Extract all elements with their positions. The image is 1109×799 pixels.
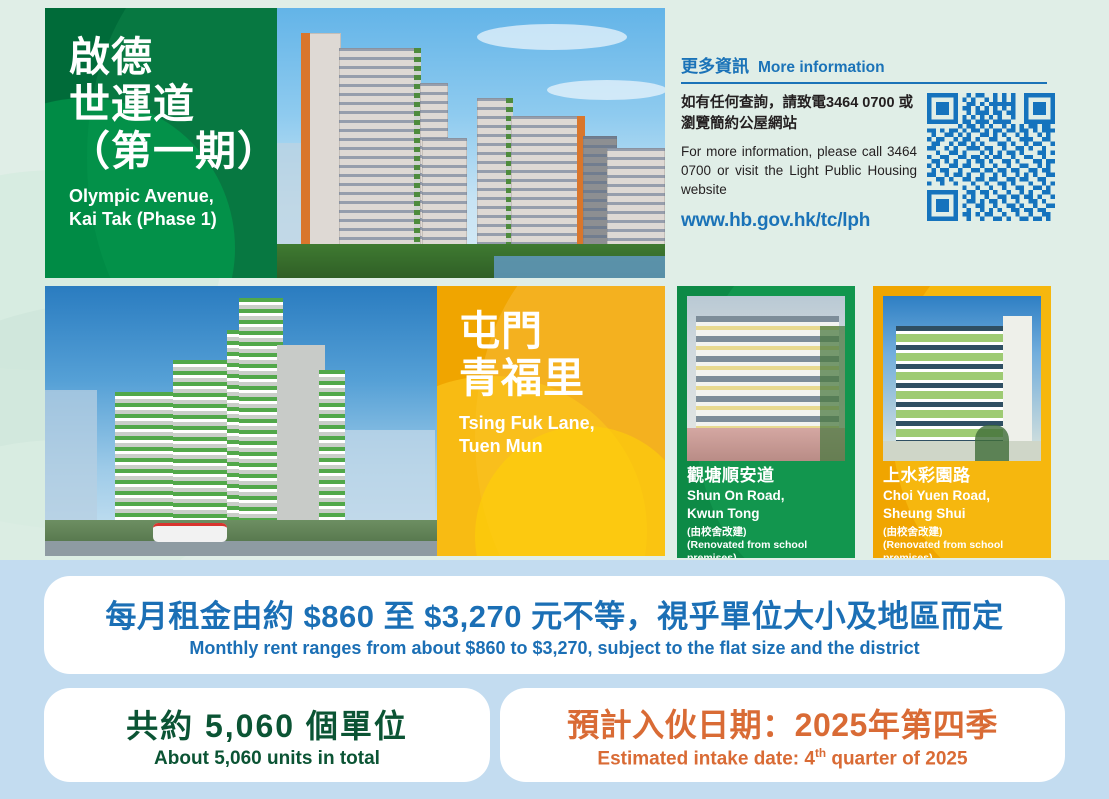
kai-tak-label-group: 啟德 世運道 （第一期） Olympic Avenue, Kai Tak (Ph… — [45, 8, 277, 231]
units-total-cn: 共約 5,060 個單位 — [126, 701, 408, 747]
more-information-heading: 更多資訊 More information — [681, 52, 1047, 84]
site-panel-kai-tak: 啟德 世運道 （第一期） Olympic Avenue, Kai Tak (Ph… — [45, 8, 277, 278]
kai-tak-cn-line1: 啟德 — [69, 34, 277, 81]
cloud-shape — [477, 24, 627, 50]
building-tower — [511, 116, 585, 248]
distant-buildings — [45, 390, 97, 520]
building-facade — [319, 370, 345, 520]
tuen-mun-cn-line2: 青福里 — [459, 355, 665, 402]
more-information-text: 如有任何查詢，請致電3464 0700 或瀏覽簡約公屋網站 For more i… — [681, 93, 917, 232]
intake-en-ordinal: th — [815, 747, 826, 760]
units-total-en: About 5,060 units in total — [154, 748, 380, 770]
school-ground-floor — [883, 441, 1041, 461]
building-tower — [477, 98, 513, 248]
building-windows — [607, 148, 665, 248]
site-card-sheung-shui: 上水彩園路 Choi Yuen Road, Sheung Shui (由校舍改建… — [873, 286, 1051, 558]
building-accent — [301, 33, 310, 248]
building-tower — [115, 392, 179, 520]
building-windows — [339, 48, 421, 248]
light-public-housing-url[interactable]: www.hb.gov.hk/tc/lph — [681, 210, 917, 232]
kai-tak-cn-line3: （第一期） — [69, 128, 277, 175]
units-total-card: 共約 5,060 個單位 About 5,060 units in total — [44, 688, 490, 782]
kai-tak-photo — [277, 8, 665, 278]
more-info-body-cn: 如有任何查詢，請致電3464 0700 或瀏覽簡約公屋網站 — [681, 93, 917, 134]
building-windows — [422, 138, 467, 248]
more-info-body-en: For more information, please call 3464 0… — [681, 142, 917, 199]
sheung-shui-en-line1: Choi Yuen Road, — [883, 488, 1045, 504]
sheung-shui-sub-en: (Renovated from school premises) — [883, 539, 1045, 558]
rent-banner-cn: 每月租金由約 $860 至 $3,270 元不等，視乎單位大小及地區而定 — [105, 591, 1003, 636]
intake-en-suffix: quarter of 2025 — [826, 748, 968, 769]
qr-code-icon[interactable] — [927, 93, 1055, 221]
building-tower — [339, 48, 421, 248]
tree-foliage — [975, 425, 1010, 461]
roadway — [45, 541, 437, 556]
intake-en-prefix: Estimated intake date: 4 — [597, 748, 815, 769]
kwun-tong-en-line2: Kwun Tong — [687, 506, 849, 522]
rent-banner-en: Monthly rent ranges from about $860 to $… — [189, 638, 919, 659]
waterway — [494, 256, 665, 278]
building-tower — [607, 148, 665, 248]
cloud-shape — [547, 80, 665, 100]
building-windows — [511, 116, 585, 248]
building-facade — [115, 392, 179, 520]
kwun-tong-sub-cn: (由校舍改建) — [687, 526, 849, 539]
tuen-mun-label-group: 屯門 青福里 Tsing Fuk Lane, Tuen Mun — [437, 286, 665, 458]
kai-tak-en-line2: Kai Tak (Phase 1) — [69, 208, 277, 231]
more-information-body: 如有任何查詢，請致電3464 0700 或瀏覽簡約公屋網站 For more i… — [681, 93, 1061, 232]
kwun-tong-cn: 觀塘順安道 — [687, 466, 849, 486]
sheung-shui-photo — [883, 296, 1041, 461]
building-tower — [422, 138, 467, 248]
kwun-tong-photo — [687, 296, 845, 461]
sheung-shui-caption: 上水彩園路 Choi Yuen Road, Sheung Shui (由校舍改建… — [883, 466, 1045, 558]
tree-foliage — [820, 326, 845, 461]
intake-date-cn: 預計入伙日期：2025年第四季 — [567, 700, 998, 746]
kwun-tong-sub-en: (Renovated from school premises) — [687, 539, 849, 558]
tuen-mun-cn-line1: 屯門 — [459, 308, 665, 355]
building-facade — [173, 360, 233, 520]
more-information-section: 更多資訊 More information 如有任何查詢，請致電3464 070… — [681, 52, 1061, 232]
rent-banner: 每月租金由約 $860 至 $3,270 元不等，視乎單位大小及地區而定 Mon… — [44, 576, 1065, 674]
tuen-mun-photo — [45, 286, 437, 556]
more-info-heading-cn: 更多資訊 — [681, 52, 749, 77]
sheung-shui-cn: 上水彩園路 — [883, 466, 1045, 486]
distant-buildings — [345, 430, 435, 520]
more-info-heading-en: More information — [758, 59, 885, 77]
tuen-mun-en-line1: Tsing Fuk Lane, — [459, 412, 665, 435]
site-card-kwun-tong: 觀塘順安道 Shun On Road, Kwun Tong (由校舍改建) (R… — [677, 286, 855, 558]
building-tower — [319, 370, 345, 520]
kai-tak-en-line1: Olympic Avenue, — [69, 185, 277, 208]
building-tower — [301, 33, 341, 248]
sheung-shui-sub-cn: (由校舍改建) — [883, 526, 1045, 539]
intake-date-en: Estimated intake date: 4th quarter of 20… — [597, 747, 967, 770]
light-rail-vehicle — [153, 523, 227, 542]
building-tower — [173, 360, 233, 520]
building-tower — [277, 345, 325, 520]
tuen-mun-en-line2: Tuen Mun — [459, 435, 665, 458]
intake-date-card: 預計入伙日期：2025年第四季 Estimated intake date: 4… — [500, 688, 1065, 782]
kwun-tong-en-line1: Shun On Road, — [687, 488, 849, 504]
sheung-shui-en-line2: Sheung Shui — [883, 506, 1045, 522]
kai-tak-cn-line2: 世運道 — [69, 81, 277, 128]
site-panel-tuen-mun: 屯門 青福里 Tsing Fuk Lane, Tuen Mun — [437, 286, 665, 556]
kwun-tong-caption: 觀塘順安道 Shun On Road, Kwun Tong (由校舍改建) (R… — [687, 466, 849, 558]
